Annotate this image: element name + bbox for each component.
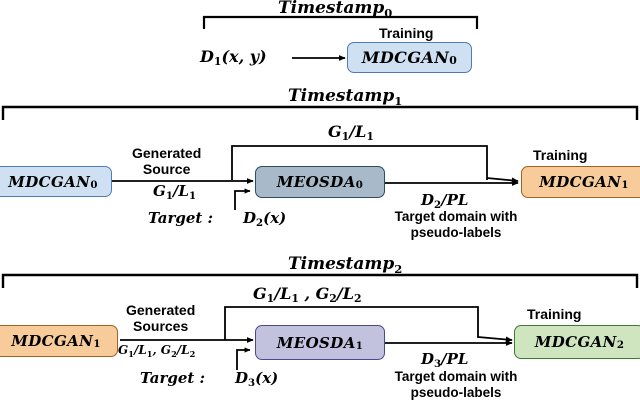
training-caption-s0: Training [379,26,433,40]
input-d1-label: D1(x, y) [200,49,267,65]
generated-source-line1: Generated [132,146,201,162]
training-caption-s2: Training [527,307,581,321]
arrow-target-d3-to-meosda1 [237,350,250,370]
bracket-timestamp0 [204,17,477,29]
generated-sources-line1: Generated [126,303,195,319]
generated-source-symbol-s1: G1/L1 [153,184,196,199]
pseudo-label-symbol-s1: D2/PL [421,193,468,208]
bypass-symbol-s1: G1/L1 [328,124,374,140]
pseudo-label-line2: pseudo-labels [371,225,541,241]
node-mdcgan1-s1[interactable]: MDCGAN1 [521,166,640,198]
generated-sources-caption-s2: Generated Sources [126,303,195,334]
training-caption-s1: Training [533,148,587,162]
figure-canvas: Timestamp0 Training D1(x, y) MDCGAN0 Tim… [0,0,640,405]
node-meosda1[interactable]: MEOSDA1 [255,325,385,360]
timestamp1-title: Timestamp1 [288,88,402,105]
target-symbol-s1: D2(x) [243,211,286,226]
pseudo-label-line2: pseudo-labels [371,385,541,401]
timestamp2-title: Timestamp2 [288,256,402,273]
pseudo-label-caption-s2: Target domain with pseudo-labels [371,369,541,400]
node-mdcgan2-s2[interactable]: MDCGAN2 [514,325,640,359]
pseudo-label-line1: Target domain with [371,369,541,385]
bracket-timestamp1 [3,107,637,120]
node-meosda0[interactable]: MEOSDA0 [255,166,385,198]
arrow-target-d2-to-meosda0 [235,191,250,210]
generated-sources-line2: Sources [126,319,195,335]
generated-source-line2: Source [132,162,201,178]
pseudo-label-symbol-s2: D3/PL [421,352,468,367]
timestamp0-title: Timestamp0 [278,0,392,17]
target-label-s1: Target : [148,211,213,226]
generated-source-caption-s1: Generated Source [132,146,201,177]
node-mdcgan0-s1[interactable]: MDCGAN0 [0,166,112,197]
pseudo-label-line1: Target domain with [371,209,541,225]
generated-sources-symbol-s2: G1/L1, G2/L2 [118,344,195,356]
bypass-symbol-s2: G1/L1 , G2/L2 [253,286,362,302]
pseudo-label-caption-s1: Target domain with pseudo-labels [371,209,541,240]
target-symbol-s2: D3(x) [235,371,278,386]
target-label-s2: Target : [140,371,205,386]
node-mdcgan1-s2[interactable]: MDCGAN1 [0,325,118,357]
node-mdcgan0-s0[interactable]: MDCGAN0 [347,42,472,73]
